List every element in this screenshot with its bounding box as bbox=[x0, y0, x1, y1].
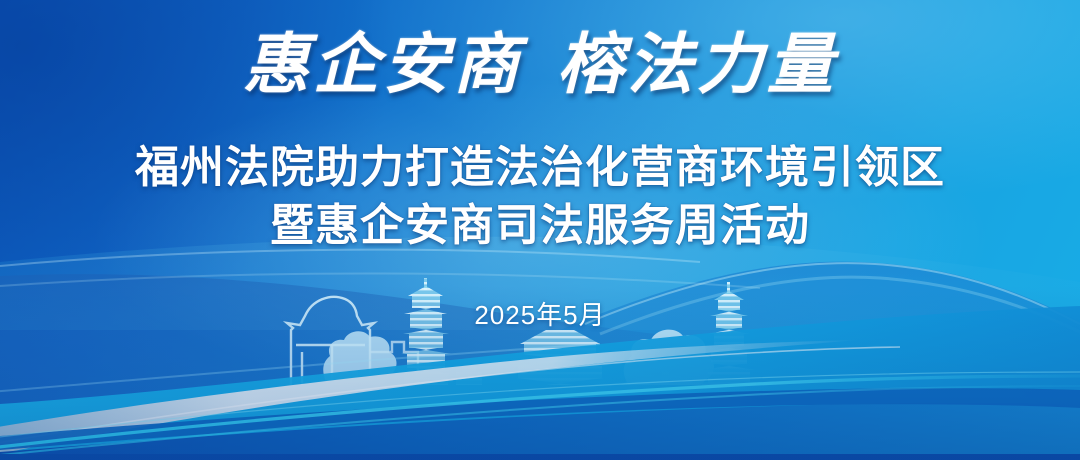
calligraphy-part1: 惠企安商 bbox=[243, 29, 523, 102]
banyan-tree-right-icon bbox=[624, 330, 714, 390]
calligraphy-part2: 榕法力量 bbox=[557, 29, 837, 102]
city-block-left bbox=[456, 366, 482, 392]
gate-wall-extension bbox=[370, 342, 418, 390]
event-banner: 惠企安商榕法力量 福州法院助力打造法治化营商环境引领区 暨惠企安商司法服务周活动… bbox=[0, 0, 1080, 460]
event-date: 2025年5月 bbox=[0, 298, 1080, 332]
banyan-tree-left-icon bbox=[323, 331, 396, 390]
traditional-hall-icon bbox=[504, 330, 616, 392]
tree-hill-left bbox=[312, 376, 398, 390]
calligraphy-title: 惠企安商榕法力量 bbox=[0, 28, 1080, 104]
headline-line-2: 暨惠企安商司法服务周活动 bbox=[0, 200, 1080, 252]
headline-line-1: 福州法院助力打造法治化营商环境引领区 bbox=[0, 142, 1080, 194]
tree-hill-right bbox=[614, 375, 714, 390]
white-pagoda-icon bbox=[398, 278, 454, 392]
